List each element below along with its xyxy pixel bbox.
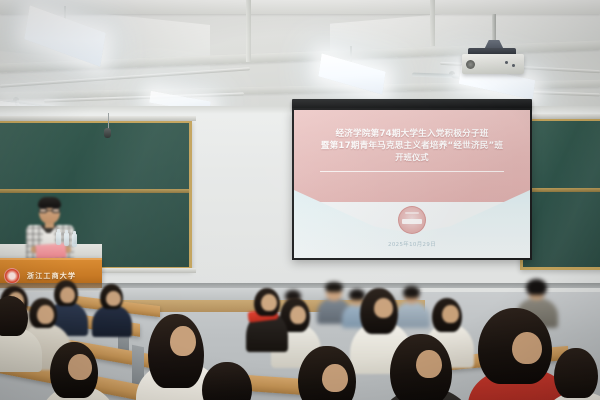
student-head	[442, 305, 459, 323]
blackboard-rail-top	[0, 116, 196, 121]
presenter-hair	[38, 197, 61, 208]
student-head	[322, 364, 348, 392]
blackboard-glare	[523, 121, 600, 267]
projection-screen[interactable]: 经济学院第74期大学生入党积极分子班 暨第17期青年马克思主义者培养“经世济民”…	[292, 108, 532, 260]
student-torso	[394, 302, 430, 328]
blackboard-right	[520, 118, 600, 270]
student-hair	[526, 279, 547, 295]
slide-divider-line	[320, 171, 504, 173]
ceiling-rib-b	[430, 0, 435, 46]
slide-title-line-3: 开班仪式	[299, 152, 525, 164]
water-bottle	[72, 234, 77, 247]
microphone-cable	[108, 113, 109, 129]
slide-title-block: 经济学院第74期大学生入党积极分子班 暨第17期青年马克思主义者培养“经世济民”…	[294, 128, 530, 164]
projected-slide: 经济学院第74期大学生入党积极分子班 暨第17期青年马克思主义者培养“经世济民”…	[294, 110, 530, 258]
student-hair	[403, 286, 420, 298]
university-crest-icon	[4, 268, 20, 284]
ceiling-beam-top	[0, 0, 600, 14]
student-torso	[92, 305, 132, 337]
student-head	[106, 291, 121, 306]
student-head	[512, 332, 542, 364]
school-emblem-icon	[398, 206, 426, 234]
lecture-hall-photo: 经济学院第74期大学生入党积极分子班 暨第17期青年马克思主义者培养“经世济民”…	[0, 0, 600, 400]
presenter	[22, 196, 78, 262]
projector-indicator	[505, 61, 508, 64]
student-head	[170, 326, 196, 356]
projector-mount-pole	[492, 14, 496, 42]
ceiling-rib-a	[246, 0, 251, 62]
student-head	[290, 306, 306, 324]
student-head	[416, 350, 442, 378]
blackboard-surface	[523, 121, 600, 267]
student-head	[37, 305, 54, 324]
student-head	[60, 287, 75, 303]
student-hair	[325, 282, 343, 292]
student-head	[374, 298, 393, 318]
student-head	[68, 354, 92, 380]
eyeglasses-icon	[39, 208, 60, 213]
slide-date: 2025年10月29日	[294, 240, 530, 248]
projector-lens-icon	[466, 60, 475, 69]
student-hair	[554, 348, 598, 398]
student-head	[261, 294, 277, 311]
slide-title-line-2: 暨第17期青年马克思主义者培养“经世济民”班	[299, 140, 525, 152]
slide-title-line-1: 经济学院第74期大学生入党积极分子班	[299, 128, 525, 140]
water-bottle	[56, 232, 61, 245]
projector-indicator	[512, 64, 515, 67]
water-bottle	[64, 233, 69, 246]
hanging-microphone-icon	[104, 128, 111, 138]
